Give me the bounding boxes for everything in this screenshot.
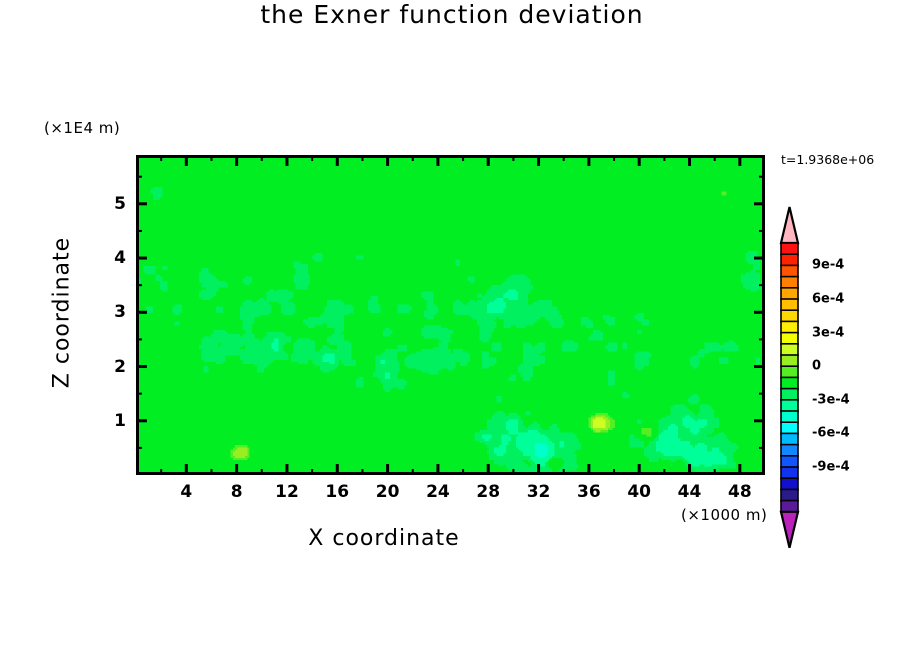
colorbar-tick-label: 0 (812, 359, 821, 374)
colorbar (778, 205, 801, 556)
x-axis-label: X coordinate (0, 526, 768, 551)
y-axis-unit: (×1E4 m) (44, 119, 120, 137)
y-tick-label: 5 (108, 194, 126, 214)
x-tick-label: 28 (476, 482, 500, 502)
x-tick-label: 44 (678, 482, 702, 502)
colorbar-tick-label: 6e-4 (812, 292, 844, 307)
y-tick-label: 4 (108, 248, 126, 268)
colorbar-tick-label: 3e-4 (812, 325, 844, 340)
colorbar-tick-label: -9e-4 (812, 460, 850, 475)
x-tick-label: 4 (180, 482, 192, 502)
x-tick-label: 16 (325, 482, 349, 502)
colorbar-tick-label: -6e-4 (812, 426, 850, 441)
timestamp-annotation: t=1.9368e+06 (781, 152, 874, 167)
chart-title: the Exner function deviation (0, 0, 904, 29)
x-axis-unit: (×1000 m) (681, 506, 767, 524)
y-axis-label: Z coordinate (50, 213, 75, 413)
x-tick-label: 20 (376, 482, 400, 502)
y-tick-label: 2 (108, 357, 126, 377)
x-tick-label: 24 (426, 482, 450, 502)
x-tick-label: 48 (728, 482, 752, 502)
y-tick-label: 1 (108, 411, 126, 431)
x-tick-label: 8 (231, 482, 243, 502)
x-tick-label: 40 (627, 482, 651, 502)
colorbar-tick-label: -3e-4 (812, 392, 850, 407)
y-tick-label: 3 (108, 302, 126, 322)
colorbar-tick-label: 9e-4 (812, 258, 844, 273)
x-tick-label: 12 (275, 482, 299, 502)
colorbar-scale (778, 205, 801, 552)
axis-ticks (136, 155, 765, 475)
x-tick-label: 32 (527, 482, 551, 502)
x-tick-label: 36 (577, 482, 601, 502)
